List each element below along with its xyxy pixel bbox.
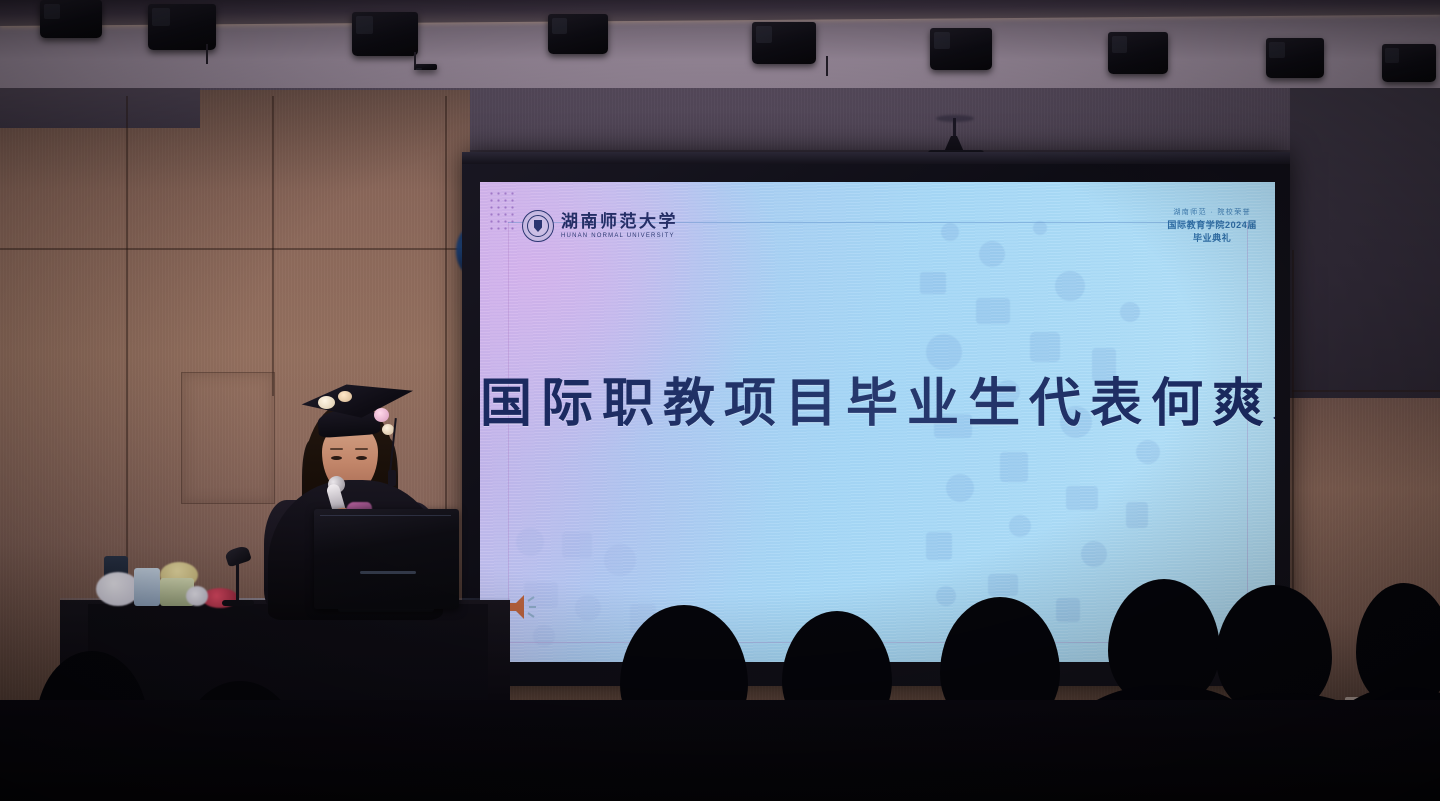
slide-title: 国际职教项目毕业生代表何爽发言: [480, 378, 1275, 430]
wall-access-panel: [181, 372, 275, 504]
stage-light-3: [352, 12, 418, 56]
stage-light-7: [1108, 32, 1168, 74]
corner-credit-line-2: 国际教育学院2024届: [1167, 219, 1257, 233]
stage-light-6: [930, 28, 992, 70]
university-name-cn: 湖南师范大学: [561, 213, 678, 230]
eye-left: [331, 456, 342, 460]
eye-right: [356, 456, 367, 460]
cap-flower-1: [318, 396, 335, 409]
stage-light-rod-5: [826, 56, 828, 76]
stage-light-1: [40, 0, 102, 38]
university-logo: 湖南师范大学 HUNAN NORMAL UNIVERSITY: [522, 210, 678, 242]
eyebrow-left: [330, 448, 343, 450]
slide-corner-credit: 湖南师范 · 院校荣誉 国际教育学院2024届 毕业典礼: [1167, 208, 1257, 246]
photograph-scene: 湖南师范大学 HUNAN NORMAL UNIVERSITY 湖南师范 · 院校…: [0, 0, 1440, 801]
dot-grid-decoration: [488, 190, 518, 230]
cap-flower-3: [374, 408, 389, 422]
stage-light-5: [752, 22, 816, 64]
tassel: [388, 470, 396, 486]
upper-wall-left-dark: [0, 88, 200, 128]
ceiling-plate: [415, 64, 437, 70]
university-name-en: HUNAN NORMAL UNIVERSITY: [561, 233, 678, 239]
eyebrow-right: [355, 448, 368, 450]
wall-seam-horizontal: [0, 248, 470, 250]
stage-light-9: [1382, 44, 1436, 82]
cap-flower-2: [338, 391, 352, 402]
corner-credit-line-1: 湖南师范 · 院校荣誉: [1167, 208, 1257, 219]
stage-light-rod-2: [206, 44, 208, 64]
upper-wall-right-dark: [1290, 88, 1440, 398]
stage-light-8: [1266, 38, 1324, 78]
stage-light-4: [548, 14, 608, 54]
foreground-dark: [0, 700, 1440, 801]
university-crest-icon: [522, 210, 554, 242]
corner-credit-line-3: 毕业典礼: [1167, 232, 1257, 246]
wall-seam-right-horizontal: [1292, 390, 1440, 392]
wall-seam-2: [272, 96, 274, 396]
